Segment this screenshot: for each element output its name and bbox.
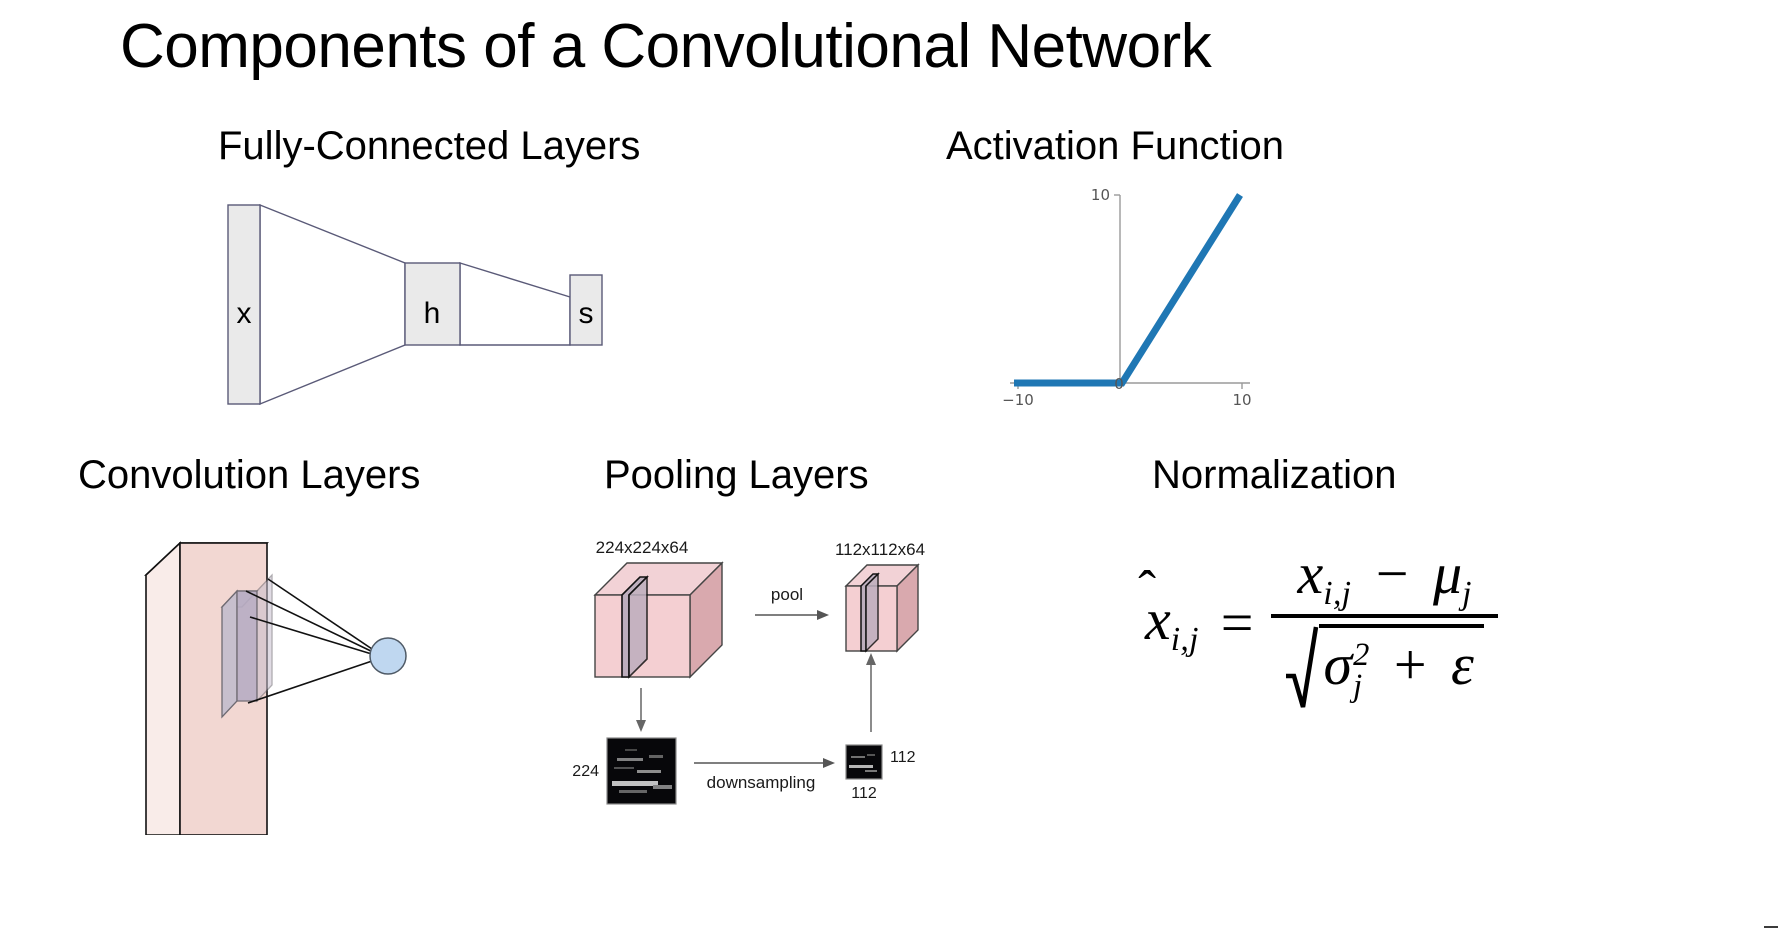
x-tick-label-minus10: −10 [1002, 391, 1034, 409]
conv-connection-4 [268, 579, 375, 651]
section-title-fully-connected: Fully-Connected Layers [218, 126, 640, 166]
section-title-pooling: Pooling Layers [604, 455, 869, 495]
pool-arrow-head [817, 610, 829, 620]
activation-function-plot: 10 −10 0 10 [970, 175, 1290, 415]
formula-sigma: σ [1323, 632, 1352, 697]
corner-mark [1764, 926, 1778, 928]
conv-filter-left [222, 591, 237, 717]
formula-epsilon: ε [1451, 632, 1474, 697]
formula-lhs-base: x [1145, 587, 1171, 652]
page-title: Components of a Convolutional Network [120, 10, 1520, 84]
normalization-formula: ̂xi,j = xi,j − μj σ2j + [1145, 545, 1498, 702]
formula-sigma-subsup: 2j [1353, 640, 1369, 702]
formula-lhs-sub: i,j [1171, 621, 1199, 658]
formula-numerator: xi,j − μj [1284, 545, 1486, 614]
formula-mu-sub: j [1462, 575, 1472, 612]
convolution-diagram [100, 505, 440, 835]
pool-output-side-label: 112 [890, 749, 916, 766]
formula-fraction: xi,j − μj σ2j + ε [1271, 545, 1497, 702]
radical-body: σ2j + ε [1319, 624, 1483, 702]
formula-sigma-sup: 2 [1353, 640, 1369, 671]
downsampling-arrow-head [823, 758, 835, 768]
conv-slab-left [146, 543, 180, 835]
pool-output-image [846, 745, 882, 779]
section-title-normalization: Normalization [1152, 455, 1397, 495]
pooling-diagram: 224x224x64 pool 112x112x64 [565, 520, 965, 810]
formula-equals: = [1221, 594, 1254, 652]
downsampling-label: downsampling [707, 773, 816, 792]
section-title-convolution: Convolution Layers [78, 455, 420, 495]
formula-denominator: σ2j + ε [1271, 618, 1497, 702]
formula-sigma-sub: j [1353, 671, 1369, 702]
relu-curve [1014, 195, 1240, 383]
x-tick-label-zero: 0 [1114, 375, 1124, 393]
conv-output-neuron [370, 638, 406, 674]
slide-canvas: Components of a Convolutional Network Fu… [0, 0, 1790, 932]
section-title-activation: Activation Function [946, 126, 1284, 166]
fc-label-x: x [237, 297, 252, 330]
formula-plus: + [1394, 632, 1427, 697]
fc-label-s: s [579, 297, 594, 330]
x-tick-label-10: 10 [1232, 391, 1251, 409]
fully-connected-diagram: x h s [200, 190, 680, 420]
pool-up-arrow-head [866, 653, 876, 665]
conv-filter-front [237, 591, 257, 701]
pool-output-bottom-label: 112 [851, 785, 877, 802]
formula-lhs: ̂xi,j [1145, 591, 1203, 656]
pool-input-slice-face [629, 577, 647, 677]
formula-minus: − [1376, 541, 1409, 606]
y-tick-label-10: 10 [1091, 186, 1110, 204]
connector-h-to-s [460, 263, 570, 345]
formula-mu: μ [1433, 541, 1462, 606]
conv-filter-right [257, 575, 272, 701]
connector-x-to-h [260, 205, 405, 404]
formula-num-base: x [1298, 541, 1324, 606]
pool-input-side-label: 224 [572, 763, 599, 780]
pool-output-slice-face [866, 574, 878, 651]
fc-label-h: h [424, 297, 441, 330]
pool-label: pool [771, 585, 803, 604]
formula-num-sub: i,j [1323, 575, 1351, 612]
pool-down-arrow-head [636, 720, 646, 732]
radical-sign-icon [1285, 624, 1319, 702]
pool-input-shape-label: 224x224x64 [596, 538, 689, 557]
pool-output-shape-label: 112x112x64 [835, 540, 925, 559]
formula-radical: σ2j + ε [1285, 624, 1483, 702]
